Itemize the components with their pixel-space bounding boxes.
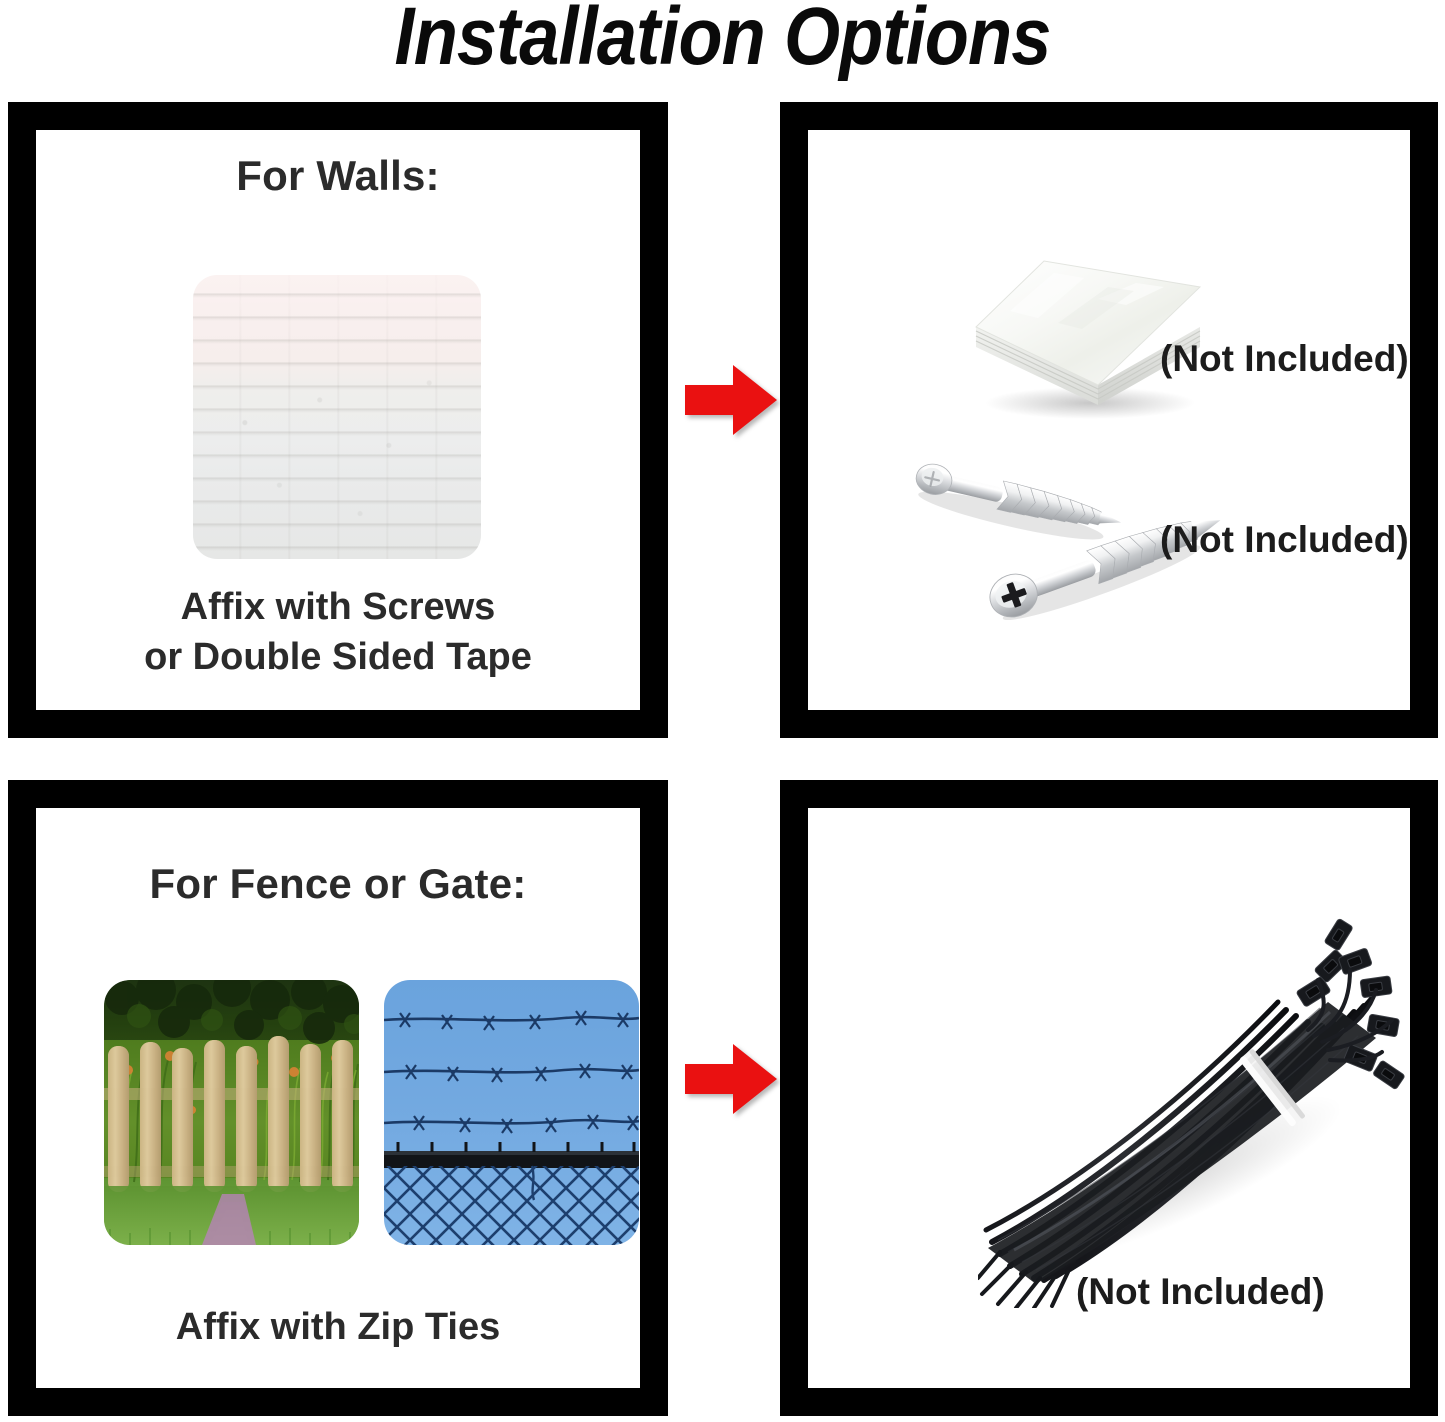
page-title: Installation Options xyxy=(87,0,1359,80)
arrow-right-icon xyxy=(685,1042,777,1116)
tape-not-included-label: (Not Included) xyxy=(1160,338,1409,380)
white-brick-wall-photo xyxy=(193,275,481,559)
chain-link-barbed-wire-fence-photo xyxy=(384,980,639,1245)
double-sided-tape-stack xyxy=(958,235,1218,425)
black-zip-ties-bundle xyxy=(978,918,1408,1308)
panel-for-walls-content: For Walls: Affix with Screws or Double S… xyxy=(36,130,640,710)
for-fence-caption: Affix with Zip Ties xyxy=(36,1302,640,1352)
panel-for-walls: For Walls: Affix with Screws or Double S… xyxy=(8,102,668,738)
arrow-right-icon xyxy=(685,363,777,437)
wooden-picket-fence-photo xyxy=(104,980,359,1245)
for-walls-caption-line1: Affix with Screws xyxy=(36,582,640,632)
panel-for-fence-content: For Fence or Gate: xyxy=(36,808,640,1388)
for-walls-heading: For Walls: xyxy=(36,152,640,200)
for-walls-caption-line2: or Double Sided Tape xyxy=(36,632,640,682)
panel-wall-hardware-content: (Not Included) xyxy=(808,130,1410,710)
brick-speckle-texture xyxy=(193,275,481,559)
panel-wall-hardware: (Not Included) xyxy=(780,102,1438,738)
zip-ties-not-included-label: (Not Included) xyxy=(1076,1271,1325,1313)
screws-not-included-label: (Not Included) xyxy=(1160,519,1409,561)
panel-fence-hardware: (Not Included) xyxy=(780,780,1438,1416)
for-fence-heading: For Fence or Gate: xyxy=(36,860,640,908)
panel-for-fence-or-gate: For Fence or Gate: xyxy=(8,780,668,1416)
for-walls-caption: Affix with Screws or Double Sided Tape xyxy=(36,582,640,682)
panel-fence-hardware-content: (Not Included) xyxy=(808,808,1410,1388)
